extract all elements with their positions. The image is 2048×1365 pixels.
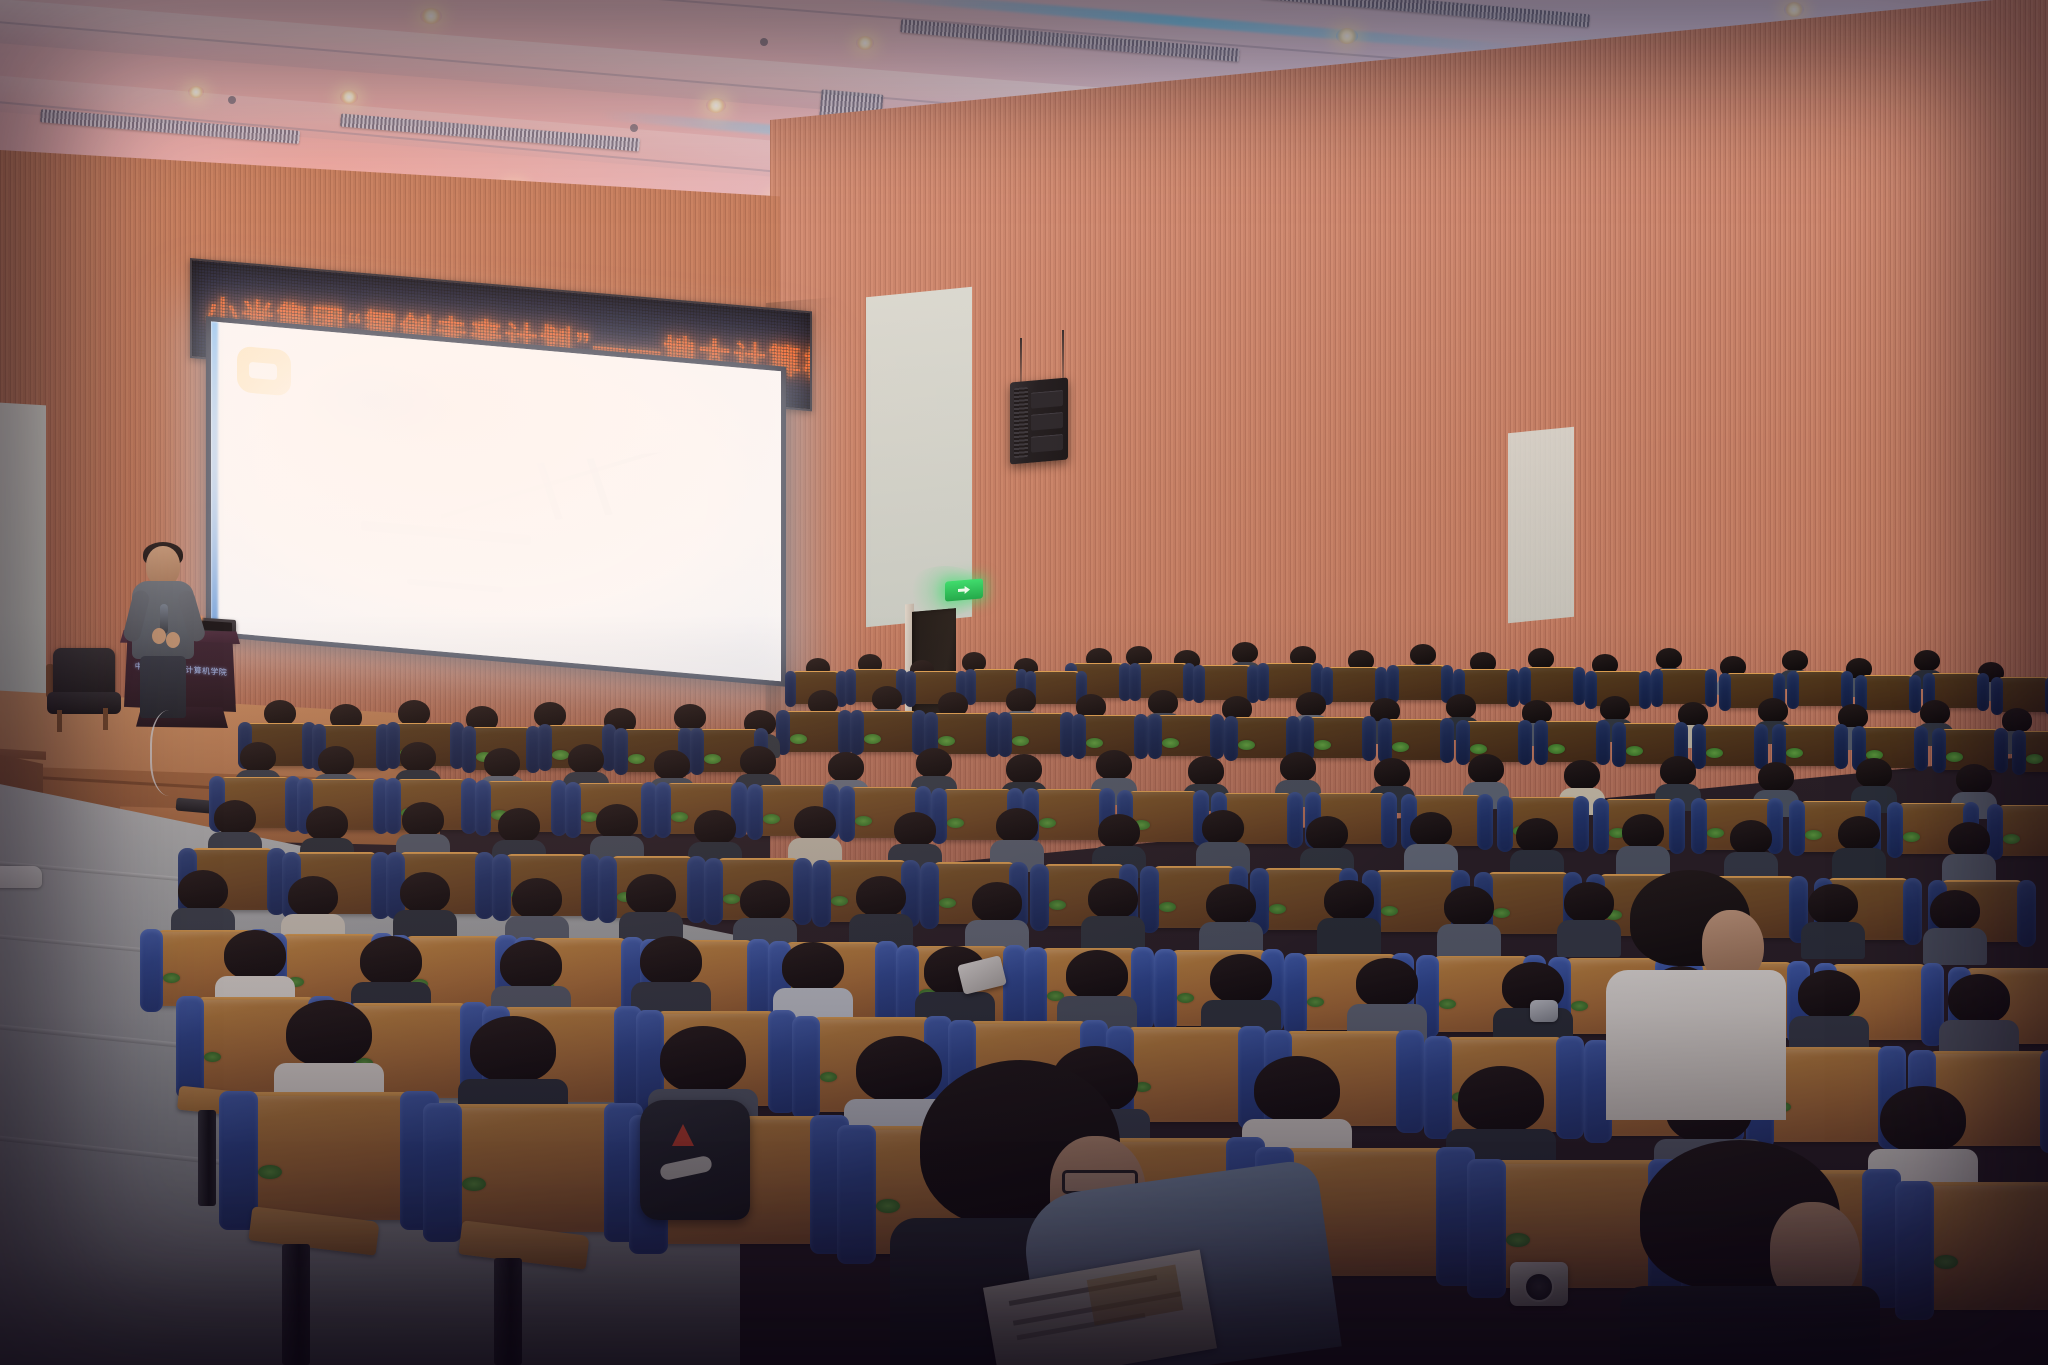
auditorium-seat (1154, 716, 1218, 756)
auditorium-seat (1778, 726, 1842, 766)
auditorium-seat (236, 1096, 422, 1220)
projection-screen (211, 321, 781, 681)
audience-member (1948, 974, 2010, 1054)
audience-member (1410, 812, 1452, 868)
seat-leg (198, 1110, 216, 1206)
chair-backrest (53, 648, 115, 698)
seat-leg (282, 1244, 310, 1365)
white-shirt-person (1606, 870, 1796, 1120)
ceiling-downlight (420, 8, 442, 24)
audience-member (1838, 816, 1880, 872)
seat-leg (494, 1258, 522, 1365)
auditorium-seat (1540, 722, 1604, 762)
wristwatch (1530, 1000, 1558, 1022)
speaker-suspension-wire (1020, 338, 1022, 386)
audience-member (1730, 820, 1772, 876)
auditorium-seat (1004, 714, 1068, 754)
audience-member (1206, 884, 1256, 950)
sprinkler-head-icon (228, 96, 236, 104)
auditorium-seat (856, 712, 920, 752)
chair-leg (57, 710, 62, 732)
audience-member (1324, 880, 1374, 946)
audience-member (1066, 950, 1128, 1030)
presenter-speaker (128, 546, 200, 706)
audience-member (626, 874, 676, 940)
audience-member (1798, 970, 1860, 1050)
speaker-driver (1031, 412, 1063, 431)
audience-member (1622, 814, 1664, 870)
audience-member (1930, 890, 1980, 956)
sprinkler-head-icon (760, 38, 768, 46)
floor-cable (150, 710, 198, 796)
speaker-driver (1031, 390, 1063, 409)
audience-member (1660, 756, 1696, 804)
auditorium-seat (1326, 668, 1382, 702)
audience-member (1808, 884, 1858, 950)
presenter-legs (140, 656, 186, 718)
auditorium-seat (1860, 676, 1916, 710)
presenter-hand (152, 628, 166, 644)
auditorium-seat (1996, 678, 2048, 712)
audience-member (856, 876, 906, 942)
ceiling-downlight (706, 98, 726, 113)
audience-member (402, 802, 444, 858)
auditorium-seat (1030, 672, 1082, 704)
auditorium-seat (2018, 732, 2048, 772)
projection-screen-frame (206, 316, 786, 687)
auditorium-seat (1912, 1186, 2048, 1310)
ceiling-downlight (856, 36, 874, 50)
far-right-torso (1620, 1286, 1880, 1365)
audience-member (1856, 758, 1892, 806)
auditorium-seat (1384, 720, 1448, 760)
audience-member (1202, 810, 1244, 866)
shoe (0, 866, 42, 888)
sprinkler-head-icon (630, 124, 638, 132)
ceiling-downlight (1784, 2, 1804, 17)
auditorium-seat (1656, 670, 1712, 704)
audience-member (596, 804, 638, 860)
foreground-person-far-right (1620, 1140, 1900, 1365)
presenter-head (146, 546, 180, 586)
auditorium-photo: 小米集团“智创未来计划”——地大计算机学院专项见面会 中国地质大学计算机学院 (0, 0, 2048, 1365)
screen-brightness-glow (211, 321, 781, 681)
auditorium-seat (440, 1108, 626, 1232)
auditorium-seat (1030, 790, 1108, 840)
auditorium-seat (1392, 666, 1448, 700)
audience-member (1098, 814, 1140, 870)
speaker-grille (1014, 387, 1028, 458)
auditorium-seat (1994, 806, 2048, 856)
ceiling-downlight (188, 86, 204, 98)
chair-leg (103, 708, 108, 730)
line-array-speaker (1010, 377, 1068, 464)
audience-member (1088, 878, 1138, 944)
wall-panel-light-far (1508, 427, 1574, 623)
audience-member (996, 808, 1038, 864)
emergency-exit-sign (945, 578, 983, 601)
camera-lens-icon (1524, 1272, 1554, 1302)
wall-panel-light-left (0, 403, 46, 706)
audience-member (972, 882, 1022, 948)
audience-member (640, 936, 702, 1016)
audience-member (178, 870, 228, 936)
audience-member (1444, 886, 1494, 952)
auditorium-seat (1792, 672, 1848, 706)
auditorium-seat (1198, 666, 1254, 700)
audience-member (1516, 818, 1558, 874)
audience-member (740, 880, 790, 946)
ceiling-downlight (1336, 28, 1358, 44)
audience-member (794, 806, 836, 862)
audience-member (1210, 954, 1272, 1034)
auditorium-seat (782, 712, 846, 752)
audience-member (1306, 816, 1348, 872)
audience-member (288, 876, 338, 942)
audience-member (400, 872, 450, 938)
auditorium-seat (1698, 726, 1762, 766)
audience-member (1948, 822, 1990, 878)
white-shirt-torso (1606, 970, 1786, 1120)
audience-member (782, 942, 844, 1022)
presenter-hand (166, 632, 180, 648)
office-chair (45, 648, 123, 730)
speaker-driver (1031, 434, 1063, 453)
audience-member (512, 878, 562, 944)
ceiling-downlight (340, 90, 358, 104)
audience-member (1356, 958, 1418, 1038)
auditorium-seat (1524, 668, 1580, 702)
